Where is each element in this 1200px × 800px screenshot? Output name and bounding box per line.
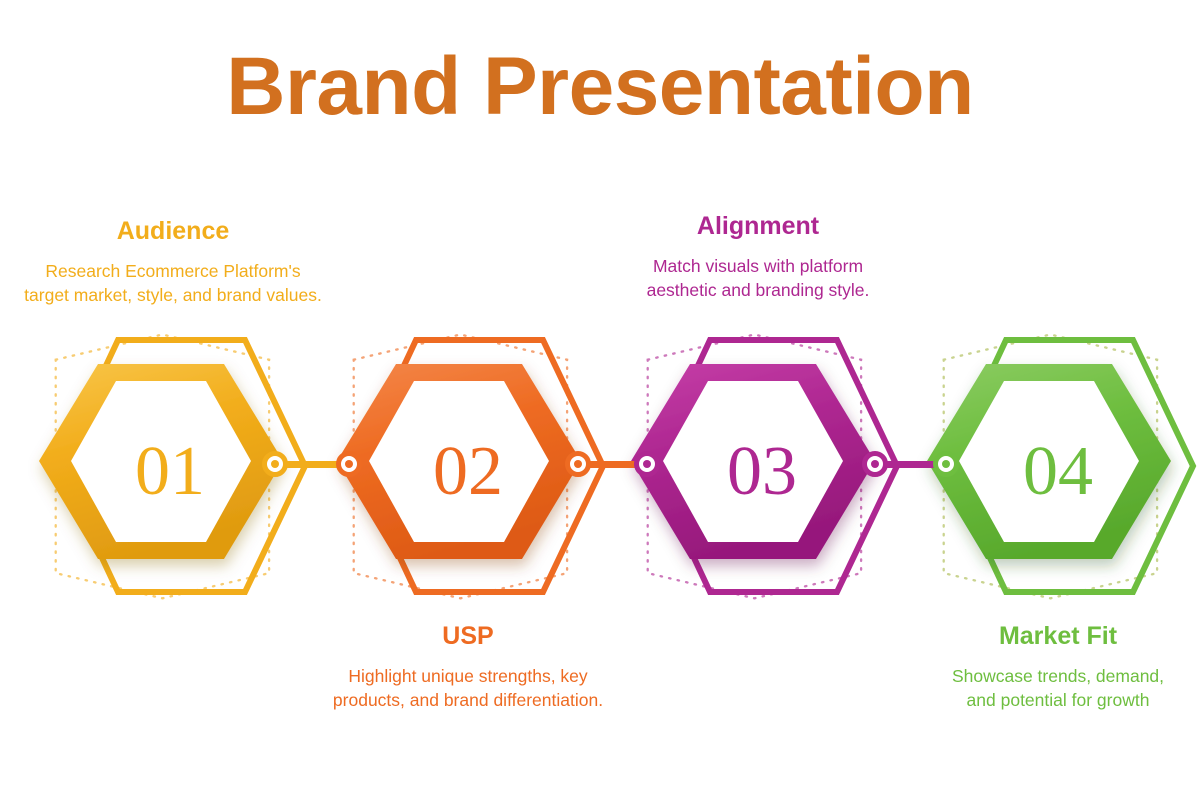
- page-title: Brand Presentation: [0, 42, 1200, 132]
- hexagon-number-1: 01: [135, 433, 205, 510]
- hexagon-number-4: 04: [1023, 433, 1093, 510]
- step-body-line-3-1: Match visuals with platform: [578, 254, 938, 279]
- step-heading-3: Alignment: [578, 213, 938, 241]
- connector-node-dot: [942, 460, 950, 468]
- step-body-line-2-2: products, and brand differentiation.: [288, 688, 648, 713]
- step-heading-2: USP: [288, 623, 648, 651]
- connector-node-3-left: [862, 451, 888, 477]
- step-body-4: Showcase trends, demand, and potential f…: [878, 664, 1200, 714]
- step-heading-1: Audience: [0, 218, 353, 246]
- step-body-line-2-1: Highlight unique strengths, key: [288, 664, 648, 689]
- step-body-2: Highlight unique strengths, key products…: [288, 664, 648, 714]
- step-body-line-1-1: Research Ecommerce Platform's: [0, 259, 353, 284]
- step-caption-4: Market Fit Showcase trends, demand, and …: [878, 623, 1200, 713]
- step-caption-1: Audience Research Ecommerce Platform's t…: [0, 218, 353, 308]
- connector-node-dot: [271, 460, 279, 468]
- step-heading-4: Market Fit: [878, 623, 1200, 651]
- step-body-line-4-1: Showcase trends, demand,: [878, 664, 1200, 689]
- connector-node-dot: [574, 460, 582, 468]
- connector-node-3-right: [933, 451, 959, 477]
- connector-node-2-right: [634, 451, 660, 477]
- connector-node-2-left: [565, 451, 591, 477]
- step-body-line-3-2: aesthetic and branding style.: [578, 278, 938, 303]
- connector-node-1-left: [262, 451, 288, 477]
- step-body-3: Match visuals with platform aesthetic an…: [578, 254, 938, 304]
- step-body-line-1-2: target market, style, and brand values.: [0, 283, 353, 308]
- step-caption-3: Alignment Match visuals with platform ae…: [578, 213, 938, 303]
- connector-node-dot: [345, 460, 353, 468]
- step-body-line-4-2: and potential for growth: [878, 688, 1200, 713]
- step-caption-2: USP Highlight unique strengths, key prod…: [288, 623, 648, 713]
- step-body-1: Research Ecommerce Platform's target mar…: [0, 259, 353, 309]
- connector-node-1-right: [336, 451, 362, 477]
- connector-node-dot: [643, 460, 651, 468]
- infographic-canvas: Brand Presentation Audience Research Eco…: [0, 0, 1200, 800]
- connector-node-dot: [871, 460, 879, 468]
- hexagon-number-2: 02: [433, 433, 503, 510]
- hexagon-number-3: 03: [727, 433, 797, 510]
